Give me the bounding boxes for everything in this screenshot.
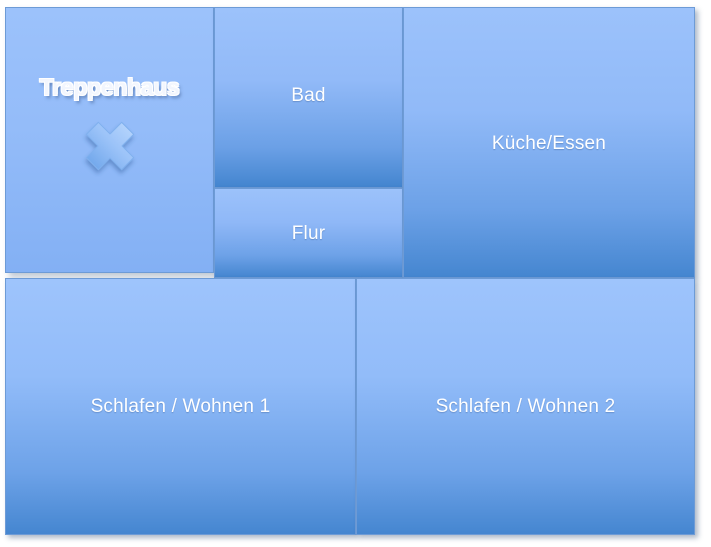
room-schlafen-wohnen-2-label: Schlafen / Wohnen 2 xyxy=(436,397,616,418)
room-schlafen-wohnen-1-label: Schlafen / Wohnen 1 xyxy=(91,397,271,418)
room-treppenhaus-label: Treppenhaus xyxy=(40,74,180,101)
room-bad[interactable]: Bad xyxy=(214,7,403,188)
room-flur-label: Flur xyxy=(292,224,326,245)
room-treppenhaus[interactable]: Treppenhaus xyxy=(5,7,214,273)
room-schlafen-wohnen-1[interactable]: Schlafen / Wohnen 1 xyxy=(5,278,356,535)
cross-x-icon xyxy=(79,115,141,177)
room-schlafen-wohnen-2[interactable]: Schlafen / Wohnen 2 xyxy=(356,278,695,535)
room-kueche-essen-label: Küche/Essen xyxy=(492,134,606,155)
room-kueche-essen[interactable]: Küche/Essen xyxy=(403,7,695,278)
floor-plan-diagram: Treppenhaus Bad xyxy=(0,0,711,547)
room-bad-label: Bad xyxy=(291,86,325,107)
room-flur[interactable]: Flur xyxy=(214,188,403,278)
